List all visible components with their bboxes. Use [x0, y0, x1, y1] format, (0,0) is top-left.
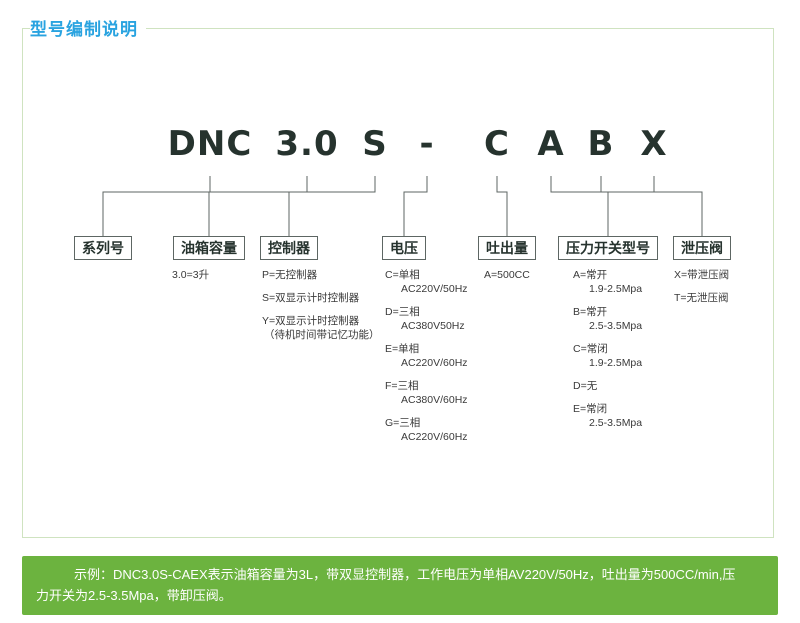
option-code-pressure_switch-1: B=常开 [573, 305, 642, 319]
option-detail-pressure_switch-4: 2.5-3.5Mpa [573, 416, 642, 430]
option-item-voltage-2: E=单相AC220V/60Hz [385, 342, 468, 370]
option-detail-voltage-1: AC380V50Hz [385, 319, 468, 333]
option-code-controller-1: S=双显示计时控制器 [262, 291, 380, 305]
option-item-controller-1: S=双显示计时控制器 [262, 291, 380, 305]
option-list-controller: P=无控制器S=双显示计时控制器Y=双显示计时控制器（待机时间带记忆功能） [262, 268, 380, 342]
option-detail-voltage-4: AC220V/60Hz [385, 430, 468, 444]
option-detail-voltage-0: AC220V/50Hz [385, 282, 468, 296]
option-item-relief_valve-0: X=带泄压阀 [674, 268, 729, 282]
option-item-controller-2: Y=双显示计时控制器（待机时间带记忆功能） [262, 314, 380, 342]
field-box-series: 系列号 [74, 236, 132, 260]
option-item-controller-0: P=无控制器 [262, 268, 380, 282]
model-token-4: C [484, 122, 510, 166]
model-code-row: DNC3.0S-CABX [0, 122, 800, 168]
model-token-0: DNC [168, 122, 253, 166]
field-box-pressure_switch: 压力开关型号 [558, 236, 658, 260]
option-code-pressure_switch-3: D=无 [573, 379, 642, 393]
example-line-2: 力开关为2.5-3.5Mpa，带卸压阀。 [36, 585, 764, 606]
option-item-pressure_switch-3: D=无 [573, 379, 642, 393]
option-code-controller-2: Y=双显示计时控制器 [262, 314, 380, 328]
option-detail-voltage-3: AC380V/60Hz [385, 393, 468, 407]
field-box-voltage: 电压 [382, 236, 426, 260]
option-code-tank_capacity-0: 3.0=3升 [172, 268, 209, 282]
option-detail-pressure_switch-0: 1.9-2.5Mpa [573, 282, 642, 296]
model-token-2: S [362, 122, 388, 166]
field-box-discharge: 吐出量 [478, 236, 536, 260]
option-list-discharge: A=500CC [484, 268, 530, 282]
option-code-relief_valve-0: X=带泄压阀 [674, 268, 729, 282]
option-code-pressure_switch-2: C=常闭 [573, 342, 642, 356]
option-list-voltage: C=单相AC220V/50HzD=三相AC380V50HzE=单相AC220V/… [385, 268, 468, 444]
page-title: 型号编制说明 [30, 18, 146, 42]
field-box-relief_valve: 泄压阀 [673, 236, 731, 260]
option-list-relief_valve: X=带泄压阀T=无泄压阀 [674, 268, 729, 305]
option-code-pressure_switch-4: E=常闭 [573, 402, 642, 416]
option-code-relief_valve-1: T=无泄压阀 [674, 291, 729, 305]
example-line-1: 示例：DNC3.0S-CAEX表示油箱容量为3L，带双显控制器，工作电压为单相A… [36, 564, 764, 585]
option-code-voltage-0: C=单相 [385, 268, 468, 282]
option-detail-pressure_switch-2: 1.9-2.5Mpa [573, 356, 642, 370]
option-item-voltage-4: G=三相AC220V/60Hz [385, 416, 468, 444]
option-item-pressure_switch-1: B=常开2.5-3.5Mpa [573, 305, 642, 333]
option-detail-pressure_switch-1: 2.5-3.5Mpa [573, 319, 642, 333]
option-item-pressure_switch-0: A=常开1.9-2.5Mpa [573, 268, 642, 296]
field-box-tank_capacity: 油箱容量 [173, 236, 245, 260]
option-code-controller-0: P=无控制器 [262, 268, 380, 282]
option-code-voltage-1: D=三相 [385, 305, 468, 319]
option-item-voltage-3: F=三相AC380V/60Hz [385, 379, 468, 407]
option-code-voltage-2: E=单相 [385, 342, 468, 356]
model-token-5: A [537, 122, 564, 166]
field-box-controller: 控制器 [260, 236, 318, 260]
option-detail-voltage-2: AC220V/60Hz [385, 356, 468, 370]
option-code-voltage-4: G=三相 [385, 416, 468, 430]
model-token-7: X [640, 122, 667, 166]
model-token-6: B [588, 122, 615, 166]
option-code-pressure_switch-0: A=常开 [573, 268, 642, 282]
option-code-discharge-0: A=500CC [484, 268, 530, 282]
option-code-voltage-3: F=三相 [385, 379, 468, 393]
model-token-3: - [419, 122, 434, 166]
option-item-tank_capacity-0: 3.0=3升 [172, 268, 209, 282]
option-item-relief_valve-1: T=无泄压阀 [674, 291, 729, 305]
option-item-discharge-0: A=500CC [484, 268, 530, 282]
model-code-spec-page: 型号编制说明 DNC3.0S-CABX 系列号油箱容量3.0=3升控制器P=无控… [0, 0, 800, 623]
example-note: 示例：DNC3.0S-CAEX表示油箱容量为3L，带双显控制器，工作电压为单相A… [22, 556, 778, 615]
option-list-pressure_switch: A=常开1.9-2.5MpaB=常开2.5-3.5MpaC=常闭1.9-2.5M… [573, 268, 642, 430]
option-note-controller-2: （待机时间带记忆功能） [262, 328, 380, 342]
model-token-1: 3.0 [275, 122, 338, 166]
option-list-tank_capacity: 3.0=3升 [172, 268, 209, 282]
option-item-pressure_switch-2: C=常闭1.9-2.5Mpa [573, 342, 642, 370]
option-item-voltage-0: C=单相AC220V/50Hz [385, 268, 468, 296]
option-item-pressure_switch-4: E=常闭2.5-3.5Mpa [573, 402, 642, 430]
option-item-voltage-1: D=三相AC380V50Hz [385, 305, 468, 333]
